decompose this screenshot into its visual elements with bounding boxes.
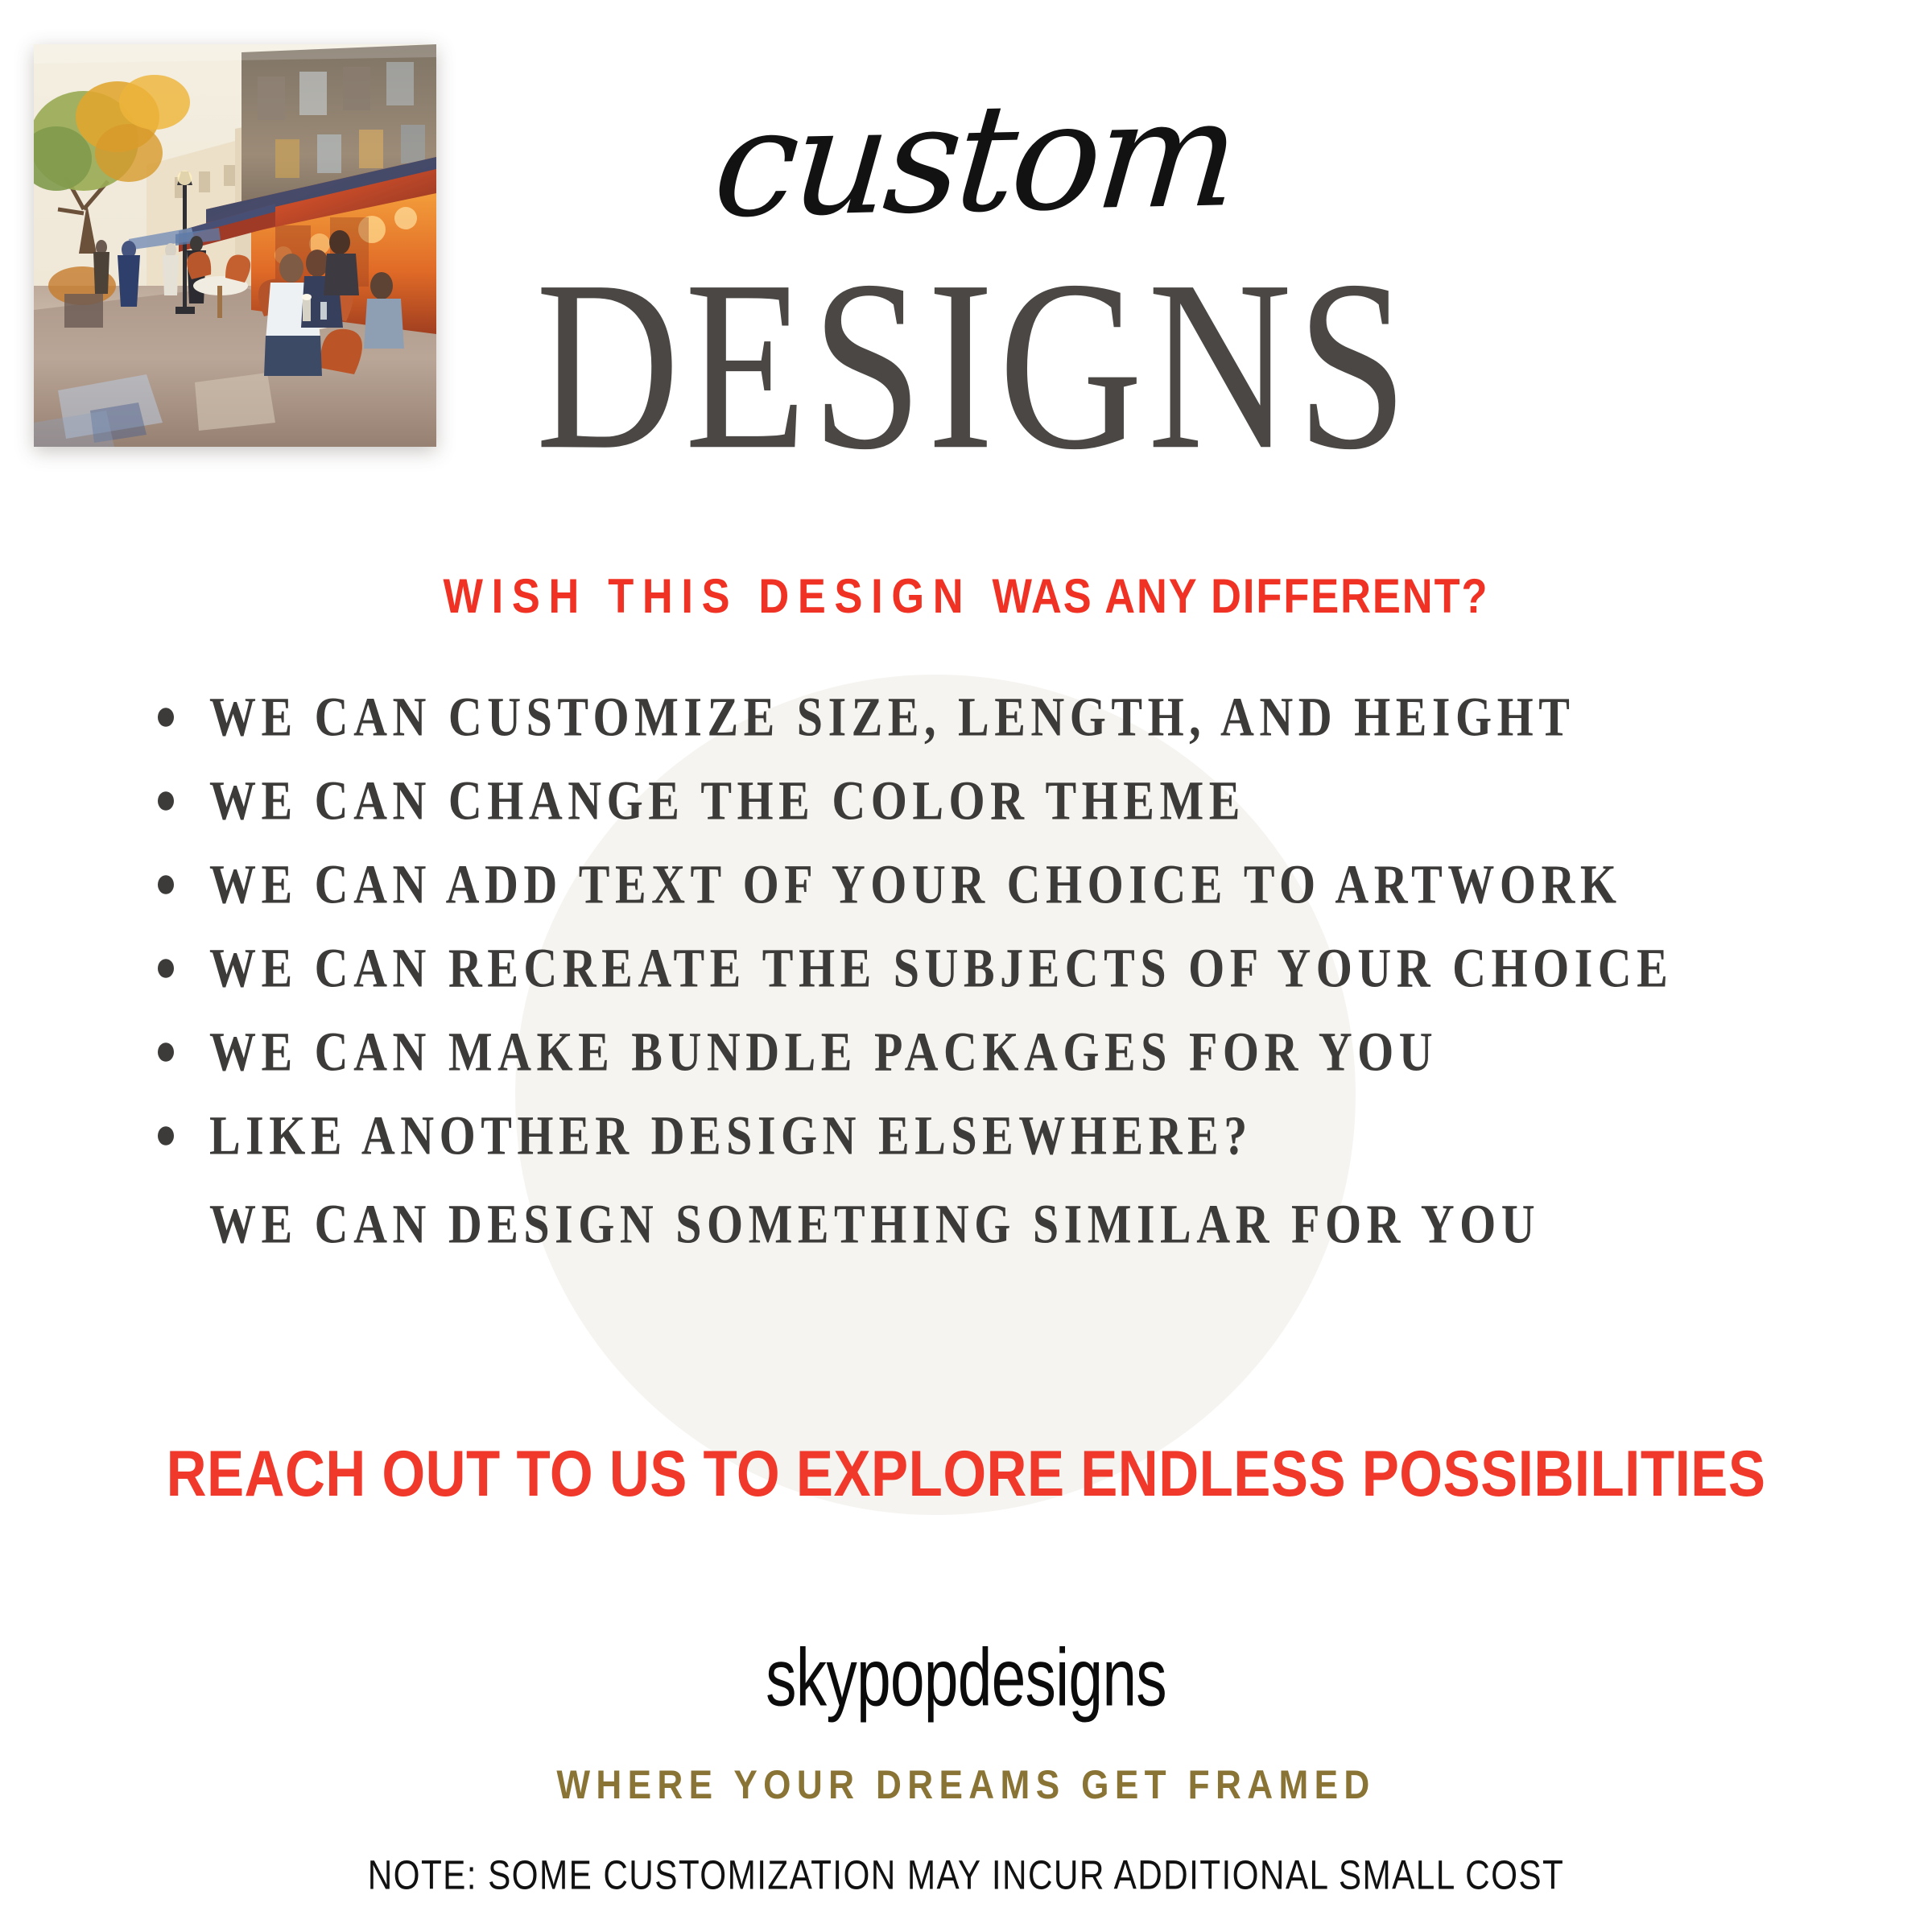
list-item-label: WE CAN DESIGN SOMETHING SIMILAR FOR YOU bbox=[209, 1193, 1540, 1255]
list-item: LIKE ANOTHER DESIGN ELSEWHERE? bbox=[153, 1108, 1860, 1163]
list-item-label: WE CAN RECREATE THE SUBJECTS OF YOUR CHO… bbox=[209, 937, 1673, 999]
brand-tagline: WHERE YOUR DREAMS GET FRAMED bbox=[77, 1762, 1855, 1809]
list-item: WE CAN RECREATE THE SUBJECTS OF YOUR CHO… bbox=[153, 941, 1860, 996]
subheading-spaced-part: WISH THIS DESIGN bbox=[444, 569, 993, 623]
list-item: WE CAN CHANGE THE COLOR THEME bbox=[153, 774, 1860, 828]
headline-script-word: custom bbox=[709, 83, 1240, 235]
bullet-dot-icon bbox=[158, 1042, 174, 1062]
custom-designs-promo-page: custom DESIGNS WISH THIS DESIGN WAS ANY … bbox=[0, 0, 1932, 1932]
list-item-label: WE CAN MAKE BUNDLE PACKAGES FOR YOU bbox=[209, 1021, 1438, 1083]
list-item: WE CAN CUSTOMIZE SIZE, LENGTH, AND HEIGH… bbox=[153, 690, 1860, 745]
list-item: WE CAN ADD TEXT OF YOUR CHOICE TO ARTWOR… bbox=[153, 857, 1860, 912]
list-item-continuation: WE CAN DESIGN SOMETHING SIMILAR FOR YOU bbox=[153, 1197, 1860, 1252]
footer-note: NOTE: SOME CUSTOMIZATION MAY INCUR ADDIT… bbox=[77, 1851, 1855, 1898]
list-item: WE CAN MAKE BUNDLE PACKAGES FOR YOU bbox=[153, 1025, 1860, 1080]
list-item-label: WE CAN ADD TEXT OF YOUR CHOICE TO ARTWOR… bbox=[209, 853, 1621, 915]
headline-block: custom DESIGNS bbox=[451, 89, 1497, 439]
subheading-question: WISH THIS DESIGN WAS ANY DIFFERENT? bbox=[29, 568, 1903, 624]
bullet-dot-icon bbox=[158, 708, 174, 727]
cta-text: REACH OUT TO US TO EXPLORE ENDLESS POSSI… bbox=[39, 1437, 1893, 1511]
subheading-plain-part: WAS ANY DIFFERENT? bbox=[993, 569, 1489, 623]
bullet-dot-icon bbox=[158, 959, 174, 978]
bullet-dot-icon bbox=[158, 791, 174, 811]
list-item-label: WE CAN CUSTOMIZE SIZE, LENGTH, AND HEIGH… bbox=[209, 686, 1575, 748]
brand-name: skypopdesigns bbox=[193, 1632, 1739, 1725]
list-item-label: LIKE ANOTHER DESIGN ELSEWHERE? bbox=[209, 1104, 1253, 1166]
bullet-dot-icon bbox=[158, 1126, 174, 1146]
bullet-dot-icon bbox=[158, 875, 174, 894]
artwork-painting-icon bbox=[34, 44, 436, 447]
artwork-thumbnail[interactable] bbox=[34, 44, 436, 447]
list-item-label: WE CAN CHANGE THE COLOR THEME bbox=[209, 770, 1245, 832]
headline-main-word: DESIGNS bbox=[451, 250, 1497, 481]
feature-list: WE CAN CUSTOMIZE SIZE, LENGTH, AND HEIGH… bbox=[153, 694, 1860, 1285]
